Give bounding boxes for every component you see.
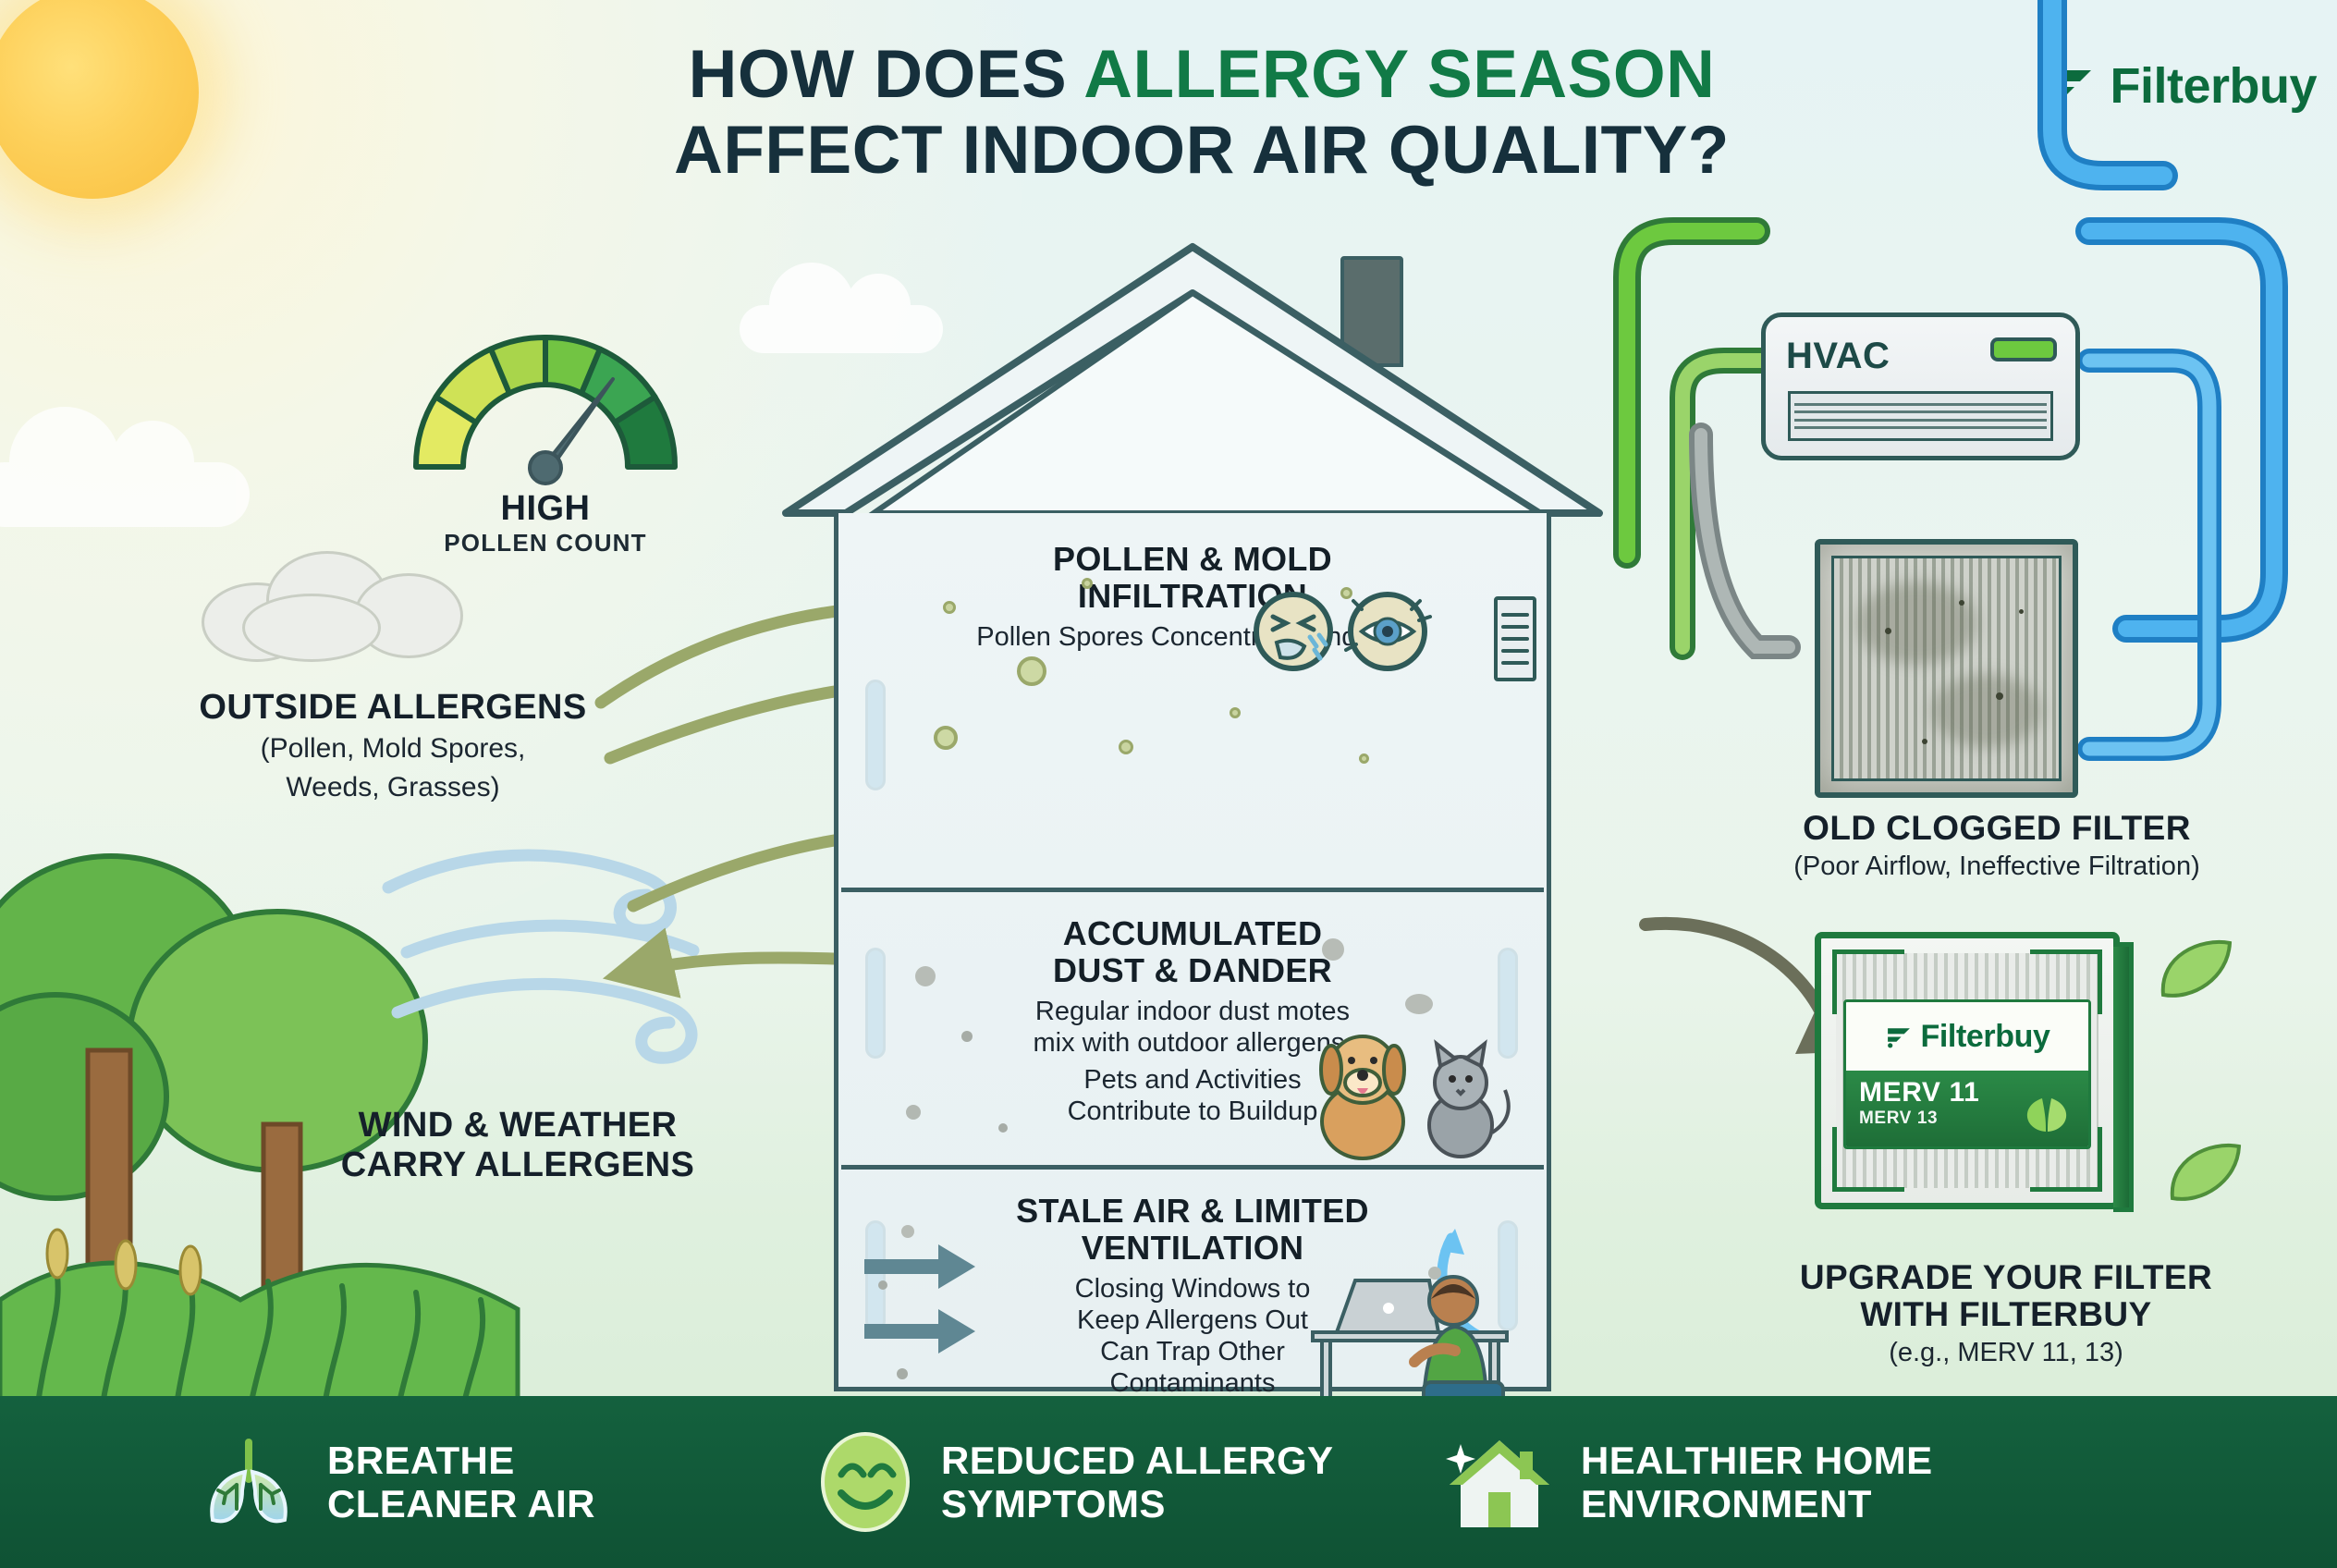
floor-divider [841,888,1544,892]
outside-allergens-heading: OUTSIDE ALLERGENS [162,689,624,727]
benefit3-line2: ENVIRONMENT [1581,1482,1932,1525]
leaf-icon [2154,934,2237,1008]
room2-heading-line2: DUST & DANDER [850,952,1535,989]
person-at-laptop-icon [1285,1243,1544,1419]
title-line1-plain: HOW DOES [689,37,1084,112]
upgrade-heading-line1: UPGRADE YOUR FILTER [1701,1259,2311,1296]
pollen-gauge: HIGH POLLEN COUNT [393,314,698,545]
benefit2-line1: REDUCED ALLERGY [941,1439,1333,1482]
lungs-icon [194,1427,303,1537]
pollen-speck-icon [1082,578,1093,589]
upgrade-heading-line2: WITH FILTERBUY [1701,1296,2311,1333]
filterbuy-wing-logo-icon [1885,1023,1913,1050]
old-clogged-filter-icon [1815,539,2078,798]
pollen-speck-icon [943,601,956,614]
dust-mote-icon [961,1031,973,1042]
benefit-breathe-cleaner-air: BREATHE CLEANER AIR [194,1427,749,1537]
leaf-icon [2014,1085,2079,1139]
outside-allergens-sub-line1: (Pollen, Mold Spores, [162,732,624,766]
pollen-speck-icon [1230,707,1241,718]
hvac-unit[interactable]: HVAC [1761,312,2080,460]
room2-heading-line1: ACCUMULATED [850,915,1535,952]
smiley-face-icon [814,1430,917,1534]
old-filter-heading: OLD CLOGGED FILTER [1701,810,2293,847]
pets-dog-cat-icon [1302,1022,1533,1160]
leaf-icon [2163,1137,2246,1211]
room-pollen-mold: POLLEN & MOLD INFILTRATION Pollen Spores… [850,541,1535,653]
room1-heading-line1: POLLEN & MOLD [850,541,1535,578]
house-sparkle-icon [1442,1427,1557,1537]
benefits-banner: BREATHE CLEANER AIR REDUCED ALLERGY SYMP… [0,1396,2337,1568]
wind-weather-label: WIND & WEATHER CARRY ALLERGENS [277,1106,758,1186]
pollen-gauge-icon [393,314,698,481]
pollen-speck-icon [1119,740,1133,754]
sneezing-face-icon [1253,589,1428,674]
hvac-grill-icon [1788,391,2053,441]
dust-mote-icon [878,1280,887,1290]
dust-mote-icon [901,1225,914,1238]
wind-line2: CARRY ALLERGENS [277,1145,758,1185]
benefit3-line1: HEALTHIER HOME [1581,1439,1932,1482]
benefit-reduced-allergy-symptoms: REDUCED ALLERGY SYMPTOMS [814,1430,1387,1534]
filterbuy-filter-icon[interactable]: Filterbuy MERV 11 MERV 13 [1815,932,2120,1209]
old-filter-sub: (Poor Airflow, Ineffective Filtration) [1701,851,2293,883]
dust-mote-icon [1322,938,1344,961]
pollen-speck-icon [934,726,958,750]
pollen-speck-icon [1340,587,1352,599]
new-filter-label: UPGRADE YOUR FILTER WITH FILTERBUY (e.g.… [1701,1259,2311,1369]
benefit2-line2: SYMPTOMS [941,1482,1333,1525]
dust-mote-icon [915,966,936,986]
dust-mote-icon [1428,1267,1441,1280]
dust-mote-icon [1405,994,1433,1014]
hvac-indicator-light [1990,337,2057,361]
dust-mote-icon [906,1105,921,1120]
benefit1-line1: BREATHE [327,1439,595,1482]
outside-allergens-label: OUTSIDE ALLERGENS (Pollen, Mold Spores, … [162,689,624,804]
dust-mote-icon [998,1123,1008,1133]
sun-icon [0,0,296,296]
floor-divider [841,1165,1544,1170]
wall-slat-icon [865,680,886,790]
infographic-canvas: HOW DOES ALLERGY SEASON AFFECT INDOOR AI… [0,0,2337,1568]
pollen-speck-icon [1359,753,1369,764]
pollen-speck-icon [1017,656,1046,686]
house-cutaway: POLLEN & MOLD INFILTRATION Pollen Spores… [767,236,1618,1396]
filter-brand-text: Filterbuy [1921,1019,2050,1055]
upgrade-sub: (e.g., MERV 11, 13) [1701,1337,2311,1369]
dust-mote-icon [897,1368,908,1379]
roof-icon [767,236,1618,550]
airflow-arrow-icon [864,1239,1003,1368]
room1-body: Pollen Spores Concentrated Indoors [850,621,1535,653]
hvac-label: HVAC [1786,336,1890,377]
wind-line1: WIND & WEATHER [277,1106,758,1145]
benefit1-line2: CLEANER AIR [327,1482,595,1525]
cloud-icon [0,462,250,527]
benefit-healthier-home-environment: HEALTHIER HOME ENVIRONMENT [1442,1427,2071,1537]
old-filter-label: OLD CLOGGED FILTER (Poor Airflow, Ineffe… [1701,810,2293,883]
allergen-cloud-icon [202,545,507,647]
outside-allergens-sub-line2: Weeds, Grasses) [162,771,624,804]
